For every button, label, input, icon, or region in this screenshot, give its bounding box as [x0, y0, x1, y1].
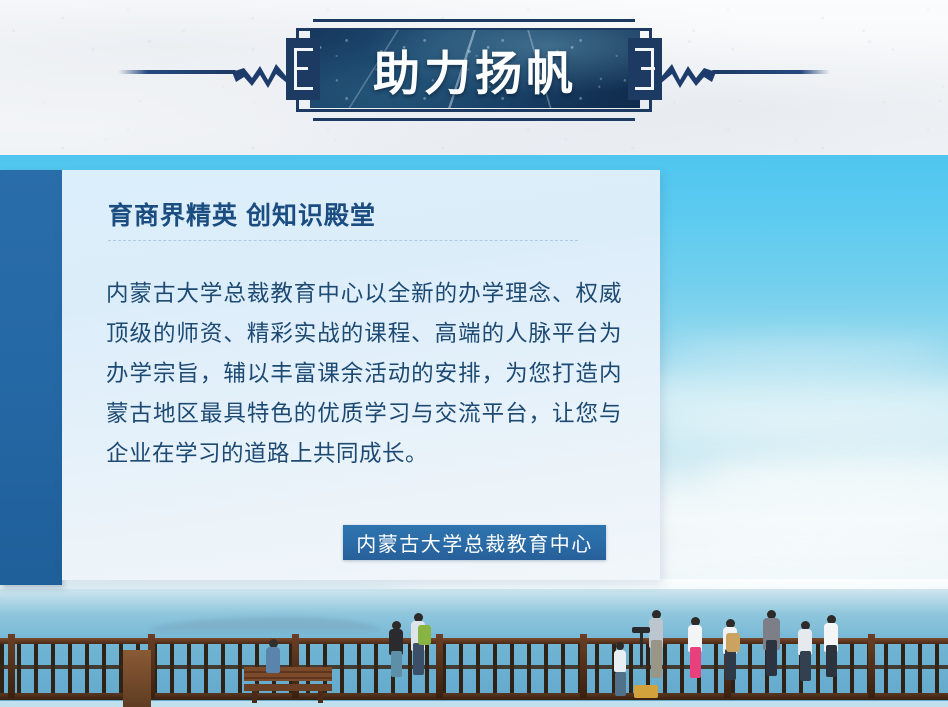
panel-heading: 育商界精英 创知识殿堂 [108, 196, 376, 232]
backpack [726, 633, 740, 653]
person-standing [795, 621, 815, 703]
banner-rule-left [118, 70, 236, 74]
flourish-right-icon [654, 58, 716, 94]
panel-body-text: 内蒙古大学总裁教育中心以全新的办学理念、权威顶级的师资、精彩实战的课程、高端的人… [106, 274, 622, 474]
banner-title: 助力扬帆 [310, 30, 640, 108]
poster-canvas: 助力扬帆 [0, 0, 948, 707]
person-seated [262, 639, 284, 687]
banner-rule-right [712, 70, 830, 74]
content-panel: 育商界精英 创知识殿堂 内蒙古大学总裁教育中心以全新的办学理念、权威顶级的师资、… [62, 170, 660, 580]
person-standing [719, 619, 741, 703]
bench [244, 667, 332, 701]
person-standing [758, 610, 784, 702]
camera-tripod [632, 627, 652, 643]
organization-badge: 内蒙古大学总裁教育中心 [343, 525, 606, 560]
flourish-left-icon [232, 58, 294, 94]
person-standing [386, 621, 406, 697]
panel-divider [108, 240, 578, 241]
railing-post-box [123, 650, 151, 707]
sign-board [634, 685, 658, 699]
backpack [418, 625, 431, 649]
header-banner-area: 助力扬帆 [0, 0, 948, 155]
person-standing [612, 642, 628, 704]
person-standing [684, 617, 706, 701]
sidebar-accent-bar [0, 170, 62, 585]
person-standing [820, 615, 842, 703]
